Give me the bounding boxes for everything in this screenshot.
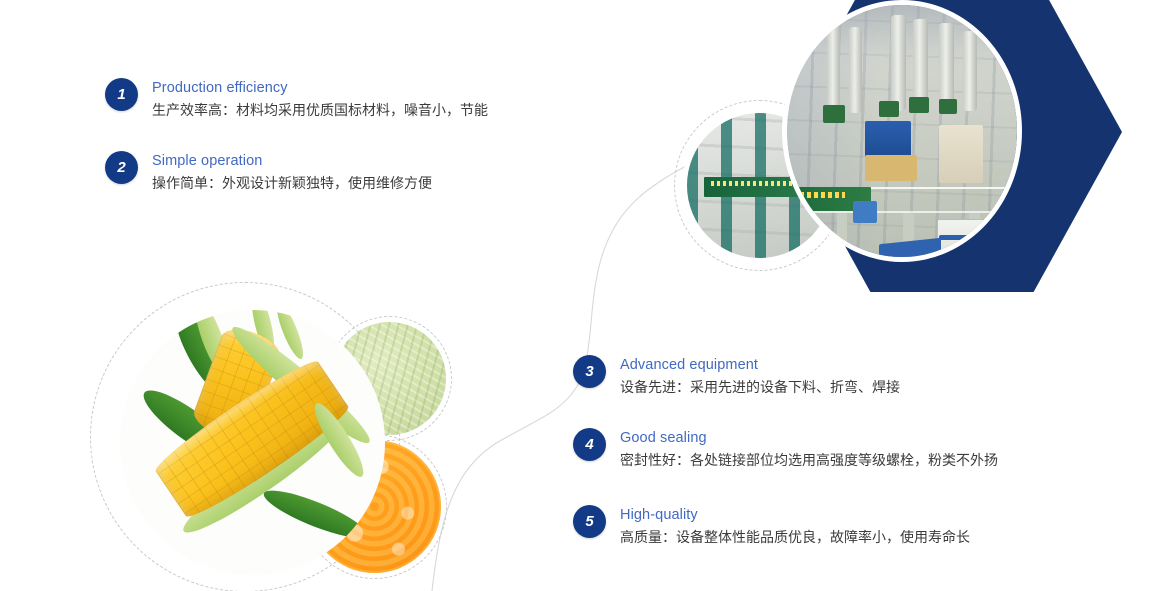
flour-milling-plant-photo	[782, 0, 1022, 262]
food-photo-cluster	[90, 282, 490, 591]
feature-item-2: 2 Simple operation 操作简单：外观设计新颖独特，使用维修方便	[105, 151, 432, 194]
feature-title-2: Simple operation	[152, 152, 432, 171]
feature-desc-4: 密封性好：各处链接部位均选用高强度等级螺栓，粉类不外扬	[620, 449, 998, 471]
feature-desc-2: 操作简单：外观设计新颖独特，使用维修方便	[152, 172, 432, 194]
infographic-page: 1 Production efficiency 生产效率高：材料均采用优质国标材…	[0, 0, 1154, 591]
feature-item-1: 1 Production efficiency 生产效率高：材料均采用优质国标材…	[105, 78, 488, 121]
feature-desc-5: 高质量：设备整体性能品质优良，故障率小，使用寿命长	[620, 526, 970, 548]
feature-desc-3: 设备先进：采用先进的设备下料、折弯、焊接	[620, 376, 900, 398]
feature-item-5: 5 High-quality 高质量：设备整体性能品质优良，故障率小，使用寿命长	[573, 505, 970, 548]
feature-badge-1: 1	[105, 78, 138, 111]
feature-badge-3: 3	[573, 355, 606, 388]
feature-badge-2: 2	[105, 151, 138, 184]
feature-title-5: High-quality	[620, 506, 970, 525]
fresh-corn-cob-photo	[120, 310, 385, 575]
hexagon-photo-cluster	[660, 0, 1154, 285]
feature-item-4: 4 Good sealing 密封性好：各处链接部位均选用高强度等级螺栓，粉类不…	[573, 428, 998, 471]
feature-title-4: Good sealing	[620, 429, 998, 448]
feature-title-1: Production efficiency	[152, 79, 488, 98]
feature-badge-5: 5	[573, 505, 606, 538]
feature-badge-4: 4	[573, 428, 606, 461]
feature-item-3: 3 Advanced equipment 设备先进：采用先进的设备下料、折弯、焊…	[573, 355, 900, 398]
feature-title-3: Advanced equipment	[620, 356, 900, 375]
feature-desc-1: 生产效率高：材料均采用优质国标材料，噪音小，节能	[152, 99, 488, 121]
